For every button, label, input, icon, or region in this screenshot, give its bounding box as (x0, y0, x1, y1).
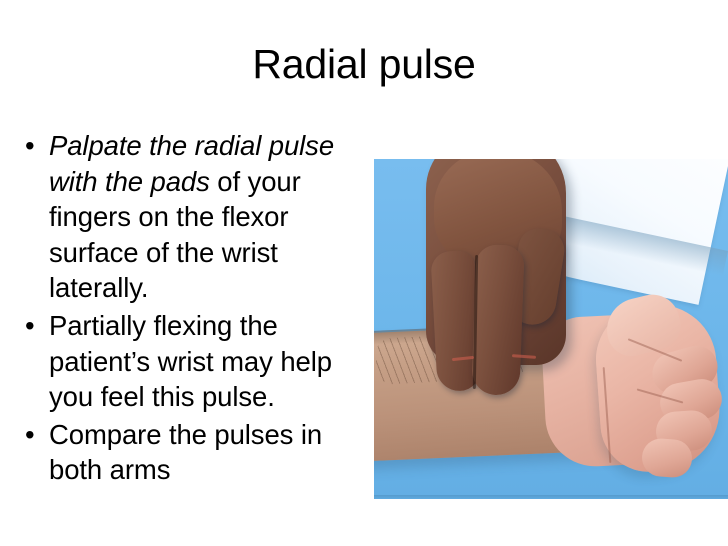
page-title: Radial pulse (0, 41, 728, 87)
bullet-list: • Palpate the radial pulse with the pads… (16, 128, 378, 490)
list-item-text: Palpate the radial pulse with the pads o… (49, 130, 334, 303)
list-item: • Partially flexing the patient’s wrist … (16, 308, 378, 415)
list-item: • Palpate the radial pulse with the pads… (16, 128, 378, 306)
photo-bottom-edge (374, 495, 728, 499)
list-item: • Compare the pulses in both arms (16, 417, 378, 488)
bullet-marker-icon: • (25, 417, 35, 453)
list-item-rest: Partially flexing the patient’s wrist ma… (49, 310, 332, 412)
bullet-marker-icon: • (25, 308, 35, 344)
slide-canvas: Radial pulse • Palpate the radial pulse … (0, 0, 728, 546)
list-item-text: Partially flexing the patient’s wrist ma… (49, 310, 332, 412)
list-item-rest: Compare the pulses in both arms (49, 419, 322, 486)
photo-background (374, 159, 728, 499)
list-item-text: Compare the pulses in both arms (49, 419, 322, 486)
clinical-photo (374, 159, 728, 499)
bullet-marker-icon: • (25, 128, 35, 164)
examiner-middle-finger (471, 244, 524, 396)
patient-finger (641, 437, 694, 478)
